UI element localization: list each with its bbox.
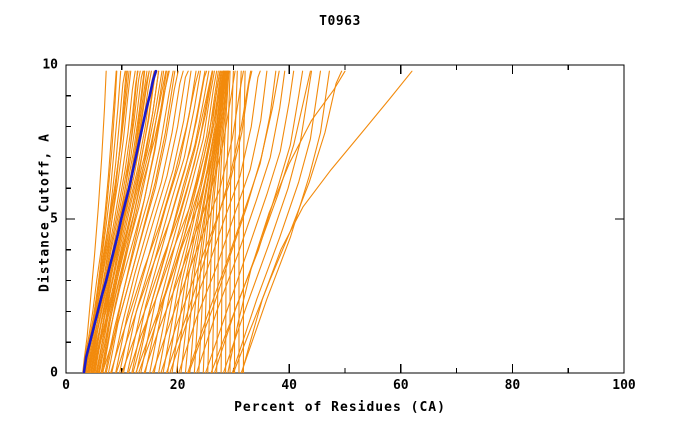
y-axis-label: Distance Cutoff, A	[38, 93, 53, 333]
y-tick-label: 10	[42, 58, 58, 73]
x-tick-label: 100	[612, 378, 635, 393]
chart-root: T0963 0204060801000510 Percent of Residu…	[0, 0, 680, 440]
x-tick-label: 60	[393, 378, 409, 393]
x-axis-label: Percent of Residues (CA)	[0, 400, 680, 415]
x-tick-label: 0	[62, 378, 70, 393]
x-tick-label: 80	[505, 378, 521, 393]
plot-canvas	[0, 0, 680, 440]
x-tick-label: 20	[170, 378, 186, 393]
prediction-curve	[233, 71, 341, 373]
x-tick-label: 40	[281, 378, 297, 393]
series-group	[83, 71, 412, 373]
y-tick-label: 0	[50, 366, 58, 381]
